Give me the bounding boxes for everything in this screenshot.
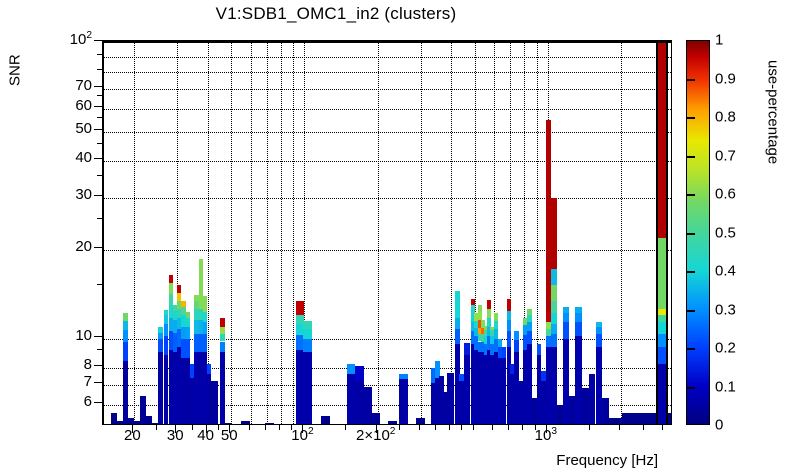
bar-segment [507,331,511,346]
bar-segment [478,312,482,320]
bar-segment [602,398,609,425]
bar-segment [494,313,498,321]
x-minor-tick [522,425,523,430]
bar-segment [658,43,666,238]
colorbar-tick-mark [686,194,695,196]
bar-segment [527,322,532,331]
x-minor-tick [619,425,620,430]
bar-segment [557,405,563,425]
x-tick-mark [229,425,230,433]
y-tick-label: 40 [75,150,92,165]
histogram-bar [658,43,666,425]
x-tick-mark [175,425,176,433]
x-minor-tick [492,425,493,430]
y-tick-mark [94,195,102,196]
bar-segment [186,339,190,358]
histogram-bar [650,413,658,425]
x-minor-tick [192,425,193,430]
y-minor-tick [97,69,102,70]
bar-segment [158,339,164,353]
bar-segment [169,283,173,293]
y-minor-tick [97,117,102,118]
bar-segment [203,296,207,313]
y-tick-label: 50 [75,121,92,136]
bar-segment [487,309,491,317]
bar-segment [347,364,356,374]
y-minor-tick [97,218,102,219]
y-minor-tick [97,349,102,350]
histogram-bar [602,398,609,425]
bar-segment [575,307,582,313]
histogram-bar [666,413,672,425]
colorbar-tick-mark [686,348,695,350]
y-tick-label: 20 [75,239,92,254]
bar-segment [551,313,557,324]
bar-segment [563,307,569,313]
bar-segment [464,355,470,425]
bar-segment [134,421,140,426]
bar-segment [494,321,498,329]
bar-segment [551,324,557,334]
histogram-bar [628,413,635,425]
y-minor-tick [97,284,102,285]
x-tick-mark [206,425,207,433]
bar-segment [658,334,666,347]
x-minor-tick [449,425,450,430]
bar-segment [551,285,557,301]
bar-segment [527,331,532,344]
x-minor-tick [218,425,219,430]
colorbar-tick-mark [686,156,695,158]
bar-segment [464,343,470,356]
histogram-bar [636,413,643,425]
bar-segment [177,285,181,293]
bar-segment [399,379,408,425]
y-minor-tick [97,143,102,144]
histogram-bar [464,343,470,425]
bar-segment [207,364,211,374]
bar-segment [388,421,397,426]
bar-segment [609,418,616,425]
y-tick-mark [94,365,102,366]
bar-segment [527,315,532,322]
bar-segment [355,381,363,425]
y-tick-mark [94,247,102,248]
bar-segment [514,331,518,340]
bar-segment [596,322,602,327]
bar-segment [265,423,274,425]
x-tick-mark [302,425,303,433]
bar-segment [347,374,356,425]
bar-segment [203,322,207,334]
bar-segment [575,322,582,336]
histogram-bar [220,318,224,425]
histogram-bar [416,418,425,425]
plot-canvas [104,43,671,424]
bar-segment [478,305,482,312]
bar-segment [537,344,541,355]
y-minor-tick [97,175,102,176]
bar-segment [209,381,218,425]
bar-segment [502,347,507,358]
x-tick-mark [376,425,377,433]
bar-segment [575,313,582,322]
y-tick-label: 102 [70,32,92,47]
bar-segment [487,300,491,309]
bar-segment [636,413,643,425]
x-minor-tick [508,425,509,430]
page-title: V1:SDB1_OMC1_in2 (clusters) [0,4,672,24]
histogram-bar [123,313,129,425]
bar-segment [158,352,164,425]
histogram-bar [158,327,164,425]
bar-segment [303,339,312,353]
bar-segment [303,329,312,339]
histogram-bar [399,374,408,425]
bar-segment [658,322,666,334]
colorbar-tick-label: 0.9 [715,71,736,86]
bar-segment [658,238,666,310]
x-minor-tick [249,425,250,430]
bar-segment [455,291,460,307]
plot-area [102,40,672,425]
gridline-horizontal [104,57,671,58]
x-minor-tick [473,425,474,430]
y-minor-tick [97,95,102,96]
bar-segment [296,301,303,315]
bar-segment [650,413,658,425]
bar-segment [203,312,207,322]
x-minor-tick [643,425,644,430]
colorbar-tick-label: 0.6 [715,187,736,202]
bar-segment [186,327,190,339]
bar-segment [507,299,511,311]
gridline-horizontal [104,109,671,110]
bar-segment [596,327,602,334]
colorbar-tick-label: 0.3 [715,302,736,317]
bar-segment [658,364,666,425]
y-tick-label: 30 [75,187,92,202]
histogram-bar [589,374,596,425]
bar-segment [551,198,557,269]
bar-segment [220,352,224,425]
bar-segment [514,340,518,352]
colorbar-tick-label: 0.1 [715,379,736,394]
colorbar-tick-label: 0.5 [715,225,736,240]
bar-segment [551,269,557,285]
bar-segment [628,413,635,425]
gridline-horizontal [104,132,671,133]
bar-segment [658,315,666,322]
bar-segment [220,318,224,327]
x-minor-tick [419,425,420,430]
bar-segment [447,373,454,426]
y-tick-label: 10 [75,328,92,343]
bar-segment [551,301,557,313]
y-axis-title: SNR [4,40,26,100]
gridline-horizontal [104,72,671,73]
bar-segment [321,416,330,425]
bar-segment [203,334,207,353]
bar-segment [455,307,460,317]
histogram-bar [321,416,330,425]
y-tick-mark [94,106,102,107]
colorbar-tick-label: 0.8 [715,110,736,125]
histogram-bar [134,421,140,426]
bar-segment [371,413,380,425]
histogram-bar [265,423,274,425]
x-tick-mark [546,425,547,433]
bar-segment [158,333,164,339]
colorbar-tick-mark [686,79,695,81]
bar-segment [507,320,511,332]
x-minor-tick [279,425,280,430]
bar-segment [416,418,425,425]
colorbar-tick-mark [686,117,695,119]
histogram-bar [609,418,616,425]
histogram-bar [575,307,582,425]
histogram-bar [447,373,454,426]
bar-segment [455,318,460,329]
x-minor-tick [291,425,292,430]
histogram-bar [371,413,380,425]
y-minor-tick [97,54,102,55]
colorbar-tick-mark [686,310,695,312]
colorbar-title: use-percentage [762,60,784,260]
bar-segment [169,294,173,305]
bar-segment [177,293,181,301]
bar-segment [123,313,129,321]
bar-segment [158,327,164,333]
y-tick-mark [94,129,102,130]
colorbar-tick-mark [686,271,695,273]
x-minor-tick [662,425,663,430]
colorbar-tick-label: 0.4 [715,264,736,279]
bar-segment [551,334,557,347]
bar-segment [498,339,502,347]
bar-segment [502,358,507,425]
histogram-bar [355,366,363,425]
bar-segment [355,366,363,381]
bar-segment [123,342,129,362]
gridline-horizontal [104,89,671,90]
bar-segment [494,329,498,339]
bar-segment [399,374,408,379]
histogram-bar [347,364,356,425]
y-tick-mark [94,402,102,403]
chart-root: V1:SDB1_OMC1_in2 (clusters) SNR 10270605… [0,0,805,472]
bar-segment [658,347,666,365]
bar-segment [303,321,312,329]
x-minor-tick [461,425,462,430]
bar-segment [123,330,129,341]
x-minor-tick [156,425,157,430]
x-axis-title: Frequency [Hz] [0,452,672,469]
bar-segment [186,312,190,317]
x-tick-mark [132,425,133,433]
y-tick-label: 7 [84,374,92,389]
bar-segment [575,336,582,425]
bar-segment [471,305,475,313]
colorbar-tick-label: 1 [715,33,723,48]
gridline-horizontal [104,161,671,162]
bar-segment [563,322,569,339]
y-tick-mark [94,382,102,383]
colorbar-tick-label: 0.2 [715,341,736,356]
bar-segment [220,342,224,353]
y-tick-label: 8 [84,357,92,372]
y-tick-mark [94,40,102,41]
x-minor-tick [399,425,400,430]
y-tick-mark [94,86,102,87]
bar-segment [507,311,511,320]
bar-segment [666,413,672,425]
histogram-bar [557,405,563,425]
colorbar-tick-label: 0.7 [715,148,736,163]
x-minor-tick [435,425,436,430]
y-tick-label: 6 [84,394,92,409]
bar-segment [589,374,596,425]
bar-segment [596,334,602,347]
y-tick-label: 60 [75,98,92,113]
bar-segment [123,361,129,425]
x-minor-tick [265,425,266,430]
x-minor-tick [589,425,590,430]
colorbar-tick-label: 0 [715,418,723,433]
colorbar-tick-mark [686,387,695,389]
histogram-bar [388,421,397,426]
x-minor-tick [535,425,536,430]
bar-segment [181,301,186,307]
bar-segment [471,299,475,305]
y-tick-mark [94,336,102,337]
histogram-bar [117,421,123,426]
bar-segment [220,334,224,342]
bar-segment [123,321,129,330]
x-minor-tick [345,425,346,430]
gridline-horizontal [104,198,671,199]
bar-segment [658,309,666,315]
bar-segment [303,352,312,425]
gridline-horizontal [104,250,671,251]
y-tick-label: 70 [75,78,92,93]
bar-segment [487,318,491,327]
bar-segment [220,327,224,334]
histogram-bar [209,381,218,425]
bar-segment [455,329,460,344]
histogram-bar [502,347,507,425]
histogram-bar [303,321,312,425]
bar-segment [186,318,190,327]
y-tick-mark [94,158,102,159]
colorbar-tick-mark [686,233,695,235]
bar-segment [527,309,532,315]
histogram-bar [551,198,557,425]
bar-segment [563,313,569,322]
bar-segment [169,275,173,284]
bar-segment [117,421,123,426]
